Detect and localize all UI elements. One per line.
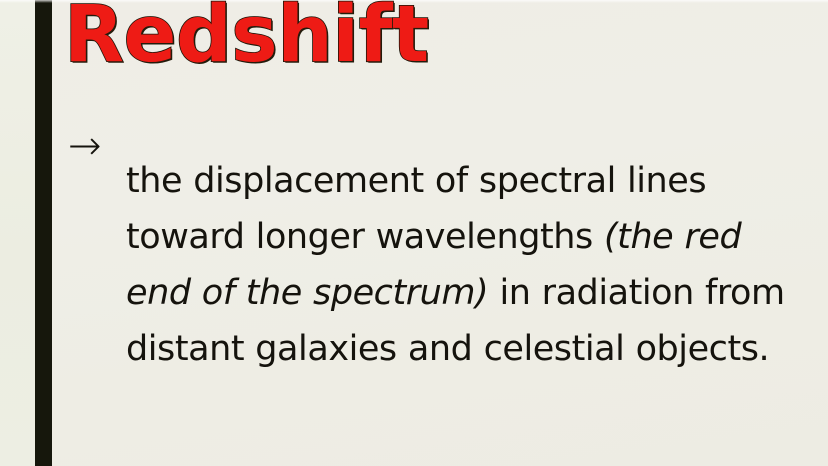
arrow-right-icon: → — [68, 118, 126, 174]
left-margin-strip — [0, 0, 35, 466]
definition-text: the displacement of spectral lines towar… — [126, 153, 808, 377]
definition-block: → the displacement of spectral lines tow… — [68, 118, 808, 412]
vertical-accent-bar — [35, 0, 52, 466]
page-title: Redshift — [64, 0, 429, 83]
slide-canvas: Redshift → the displacement of spectral … — [0, 0, 828, 466]
